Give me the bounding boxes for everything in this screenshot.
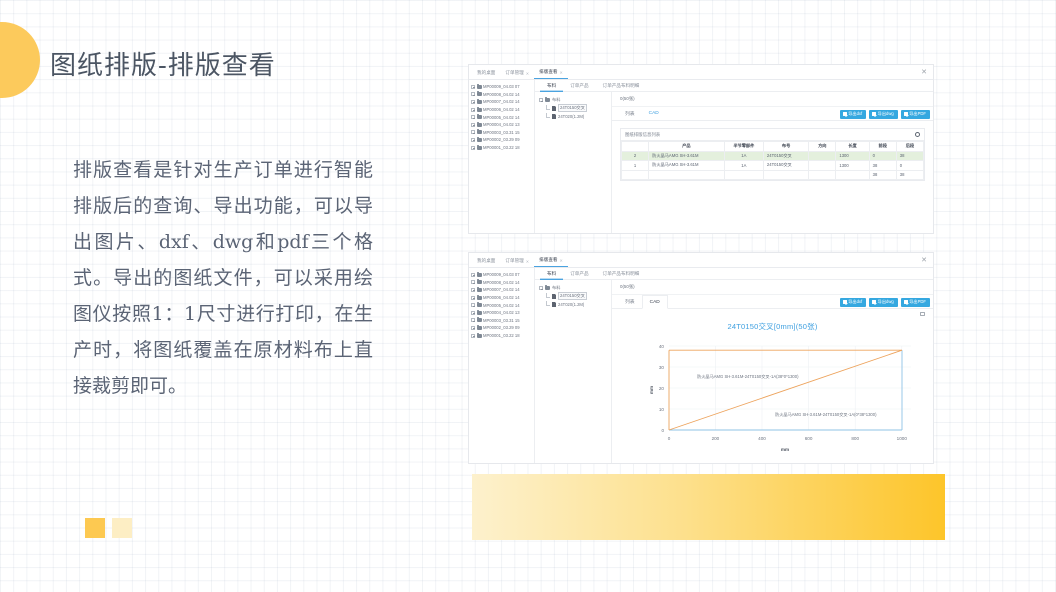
col-length: 长度 bbox=[836, 142, 869, 152]
order-tree-item-label: MP00003_03.31 15 bbox=[483, 318, 520, 323]
tree-branch-icon bbox=[546, 113, 550, 118]
folder-icon bbox=[477, 273, 482, 277]
order-tree-item-label: MP00002_03.29 09 bbox=[483, 137, 520, 142]
screenshot-panel-cad-view: 我的桌面 订单管理 ✕ 排版查看 ✕ ✕ MP00009_04.03 07 bbox=[468, 252, 934, 464]
sub-tab-order-product-fabric-detail[interactable]: 订单产品布料明细 bbox=[596, 80, 647, 92]
folder-icon bbox=[477, 318, 482, 322]
cell-product bbox=[649, 170, 725, 180]
main-tab-desktop[interactable]: 我的桌面 bbox=[472, 70, 500, 79]
download-icon bbox=[843, 300, 847, 305]
x-tick-label: 600 bbox=[804, 436, 812, 441]
decorative-circle bbox=[0, 22, 40, 98]
download-icon bbox=[904, 112, 908, 117]
chart-title: 24T0150交叉[0mm](50张) bbox=[612, 321, 933, 332]
cell-fabric-no: 24T0150交叉 bbox=[763, 151, 808, 161]
expand-collapse-icon[interactable] bbox=[471, 115, 475, 119]
file-icon bbox=[552, 106, 556, 111]
order-tree-item[interactable]: MP00009_04.03 07 bbox=[471, 271, 532, 279]
order-tree-item[interactable]: MP00001_03.22 18 bbox=[471, 144, 532, 152]
order-tree-item[interactable]: MP00005_04.02 14 bbox=[471, 301, 532, 309]
fabric-tree-bottom[interactable]: 布料 24T0150交叉 24T020(1.2M) bbox=[535, 280, 612, 463]
col-front: 前段 bbox=[869, 142, 896, 152]
main-tab-desktop-label: 我的桌面 bbox=[477, 258, 495, 264]
order-tree-item-label: MP00006_04.02 14 bbox=[483, 295, 520, 300]
folder-icon bbox=[477, 326, 482, 330]
order-tree-item-label: MP00003_03.31 15 bbox=[483, 130, 520, 135]
folder-icon bbox=[477, 288, 482, 292]
order-tree-top[interactable]: MP00009_04.03 07 MP00008_04.02 14 MP0000… bbox=[469, 80, 535, 233]
window-close-icon[interactable]: ✕ bbox=[921, 257, 927, 264]
table-total-row: 38 38 bbox=[622, 170, 924, 180]
folder-icon bbox=[477, 108, 482, 112]
close-icon[interactable]: ✕ bbox=[560, 258, 563, 263]
folder-icon bbox=[477, 311, 482, 315]
fabric-tree-root-label: 布料 bbox=[552, 285, 560, 291]
panes: 布料 24T0150交叉 24T020(1.2M) bbox=[535, 92, 933, 233]
slide-canvas: 图纸排版-排版查看 排版查看是针对生产订单进行智能排版后的查询、导出功能，可以导… bbox=[0, 0, 1056, 592]
close-icon[interactable]: ✕ bbox=[526, 71, 529, 76]
table-caption: 图纸排版信息列表 bbox=[625, 132, 660, 138]
fabric-tree-top[interactable]: 布料 24T0150交叉 24T020(1.2M) bbox=[535, 92, 612, 233]
order-tree-item[interactable]: MP00004_04.02 13 bbox=[471, 121, 532, 129]
expand-collapse-icon[interactable] bbox=[471, 318, 475, 322]
main-tab-order-management-label: 订单管理 bbox=[505, 70, 523, 76]
folder-icon bbox=[477, 130, 482, 134]
cell-fabric-no bbox=[763, 170, 808, 180]
table-header-row: 产品 半节零部件 布号 方向 长度 前段 后段 bbox=[622, 142, 924, 152]
download-icon bbox=[843, 112, 847, 117]
fabric-tree-item-24t020[interactable]: 24T020(1.2M) bbox=[539, 300, 608, 308]
content-column: 布料 订单产品 订单产品布料明细 布料 24T bbox=[535, 80, 933, 233]
tab-list[interactable]: 列表 bbox=[618, 295, 642, 309]
expand-collapse-icon[interactable] bbox=[471, 138, 475, 142]
main-tab-order-management[interactable]: 订单管理 ✕ bbox=[500, 258, 534, 267]
main-tab-layout-view-label: 排版查看 bbox=[539, 257, 557, 263]
export-pdf-button[interactable]: 导出PDF bbox=[901, 298, 930, 307]
main-tabbar: 我的桌面 订单管理 ✕ 排版查看 ✕ ✕ bbox=[469, 65, 933, 80]
tab-list[interactable]: 列表 bbox=[618, 107, 642, 121]
table-row[interactable]: 2 防火晶马AMG SH-3.61M 1A 24T0150交叉 1300 0 3… bbox=[622, 151, 924, 161]
sub-tab-order-product[interactable]: 订单产品 bbox=[563, 268, 595, 280]
cell-front: 38 bbox=[869, 161, 896, 171]
download-icon bbox=[904, 300, 908, 305]
order-tree-item-label: MP00009_04.03 07 bbox=[483, 272, 520, 277]
x-axis-label: mm bbox=[780, 447, 788, 452]
decorative-square-dark bbox=[85, 518, 105, 538]
chart-annotation: 防火晶马AMG SH-3.61M-24T0150交叉-1A(38*0*1300) bbox=[697, 373, 799, 380]
layout-info-table-card: 图纸排版信息列表 产品 半节零部件 布号 bbox=[620, 128, 925, 181]
main-tab-desktop-label: 我的桌面 bbox=[477, 70, 495, 76]
sub-tabbar: 布料 订单产品 订单产品布料明细 bbox=[535, 268, 933, 280]
folder-icon bbox=[545, 98, 550, 102]
y-tick-label: 10 bbox=[658, 407, 664, 412]
y-tick-label: 40 bbox=[658, 344, 664, 349]
file-icon bbox=[552, 302, 556, 307]
table-caption-bar: 图纸排版信息列表 bbox=[621, 129, 924, 141]
download-icon bbox=[872, 300, 876, 305]
expand-collapse-icon[interactable] bbox=[471, 146, 475, 150]
export-button-group: 导出dxf 导出dwg 导出PDF bbox=[840, 110, 930, 119]
body-paragraph: 排版查看是针对生产订单进行智能排版后的查询、导出功能，可以导出图片、dxf、dw… bbox=[73, 152, 373, 404]
expand-collapse-icon[interactable] bbox=[471, 326, 475, 330]
fabric-tree-item-24t0150[interactable]: 24T0150交叉 bbox=[539, 292, 608, 300]
x-tick-label: 200 bbox=[711, 436, 719, 441]
expand-collapse-icon[interactable] bbox=[539, 286, 543, 290]
col-index bbox=[622, 142, 649, 152]
sub-tabbar: 布料 订单产品 订单产品布料明细 bbox=[535, 80, 933, 92]
order-tree-item-label: MP00006_04.02 14 bbox=[483, 107, 520, 112]
folder-icon bbox=[477, 334, 482, 338]
decorative-square-light bbox=[112, 518, 132, 538]
order-tree-item-label: MP00001_03.22 18 bbox=[483, 333, 520, 338]
tab-cad[interactable]: CAD bbox=[642, 295, 668, 309]
window-body: MP00009_04.03 07 MP00008_04.02 14 MP0000… bbox=[469, 80, 933, 233]
folder-icon bbox=[477, 146, 482, 150]
cell-index: 2 bbox=[622, 151, 649, 161]
file-icon bbox=[552, 114, 556, 119]
tab-cad[interactable]: CAD bbox=[642, 107, 666, 121]
download-icon bbox=[872, 112, 876, 117]
folder-icon bbox=[477, 115, 482, 119]
y-tick-label: 0 bbox=[661, 428, 664, 433]
main-tab-order-management[interactable]: 订单管理 ✕ bbox=[500, 70, 534, 79]
fabric-tree-root-label: 布料 bbox=[552, 97, 560, 103]
export-dxf-button[interactable]: 导出dxf bbox=[840, 110, 866, 119]
order-tree-item[interactable]: MP00006_04.02 14 bbox=[471, 294, 532, 302]
expand-collapse-icon[interactable] bbox=[471, 288, 475, 292]
order-tree-item-label: MP00004_04.02 13 bbox=[483, 310, 520, 315]
expand-collapse-icon[interactable] bbox=[471, 85, 475, 89]
fabric-tree-item-label: 24T020(1.2M) bbox=[558, 302, 584, 307]
export-dxf-button[interactable]: 导出dxf bbox=[840, 298, 866, 307]
export-dwg-button[interactable]: 导出dwg bbox=[869, 298, 898, 307]
order-tree-item-label: MP00007_04.02 14 bbox=[483, 99, 520, 104]
expand-collapse-icon[interactable] bbox=[471, 130, 475, 134]
folder-icon bbox=[477, 123, 482, 127]
order-tree-item-label: MP00002_03.29 09 bbox=[483, 325, 520, 330]
order-tree-item[interactable]: MP00006_04.02 14 bbox=[471, 106, 532, 114]
order-tree-item[interactable]: MP00002_03.29 09 bbox=[471, 324, 532, 332]
window-body: MP00009_04.03 07 MP00008_04.02 14 MP0000… bbox=[469, 268, 933, 463]
order-tree-item-label: MP00001_03.22 18 bbox=[483, 145, 520, 150]
export-dwg-label: 导出dwg bbox=[878, 111, 894, 117]
chart-series-diagonal-cut bbox=[669, 350, 902, 430]
sub-tab-fabric[interactable]: 布料 bbox=[540, 268, 563, 280]
folder-icon bbox=[477, 138, 482, 142]
x-tick-label: 400 bbox=[758, 436, 766, 441]
cell-direction bbox=[809, 170, 836, 180]
layout-plot: 40 30 20 10 0 0 200 400 600 800 bbox=[623, 334, 923, 454]
export-pdf-button[interactable]: 导出PDF bbox=[901, 110, 930, 119]
order-tree-item[interactable]: MP00009_04.03 07 bbox=[471, 83, 532, 91]
cell-length bbox=[836, 170, 869, 180]
table-row[interactable]: 1 防火晶马AMG SH-3.61M 1A 24T0150交叉 1300 38 … bbox=[622, 161, 924, 171]
expand-collapse-icon[interactable] bbox=[471, 100, 475, 104]
export-dwg-label: 导出dwg bbox=[878, 299, 894, 305]
content-column: 布料 订单产品 订单产品布料明细 布料 24T bbox=[535, 268, 933, 463]
order-tree-item-label: MP00005_04.02 14 bbox=[483, 303, 520, 308]
order-tree-item[interactable]: MP00003_03.31 15 bbox=[471, 317, 532, 325]
expand-collapse-icon[interactable] bbox=[471, 108, 475, 112]
col-back: 后段 bbox=[896, 142, 923, 152]
screenshot-panel-list-view: 我的桌面 订单管理 ✕ 排版查看 ✕ ✕ MP00009_04.03 07 bbox=[468, 64, 934, 234]
order-tree-item[interactable]: MP00005_04.02 14 bbox=[471, 113, 532, 121]
fabric-tree-item-24t0150[interactable]: 24T0150交叉 bbox=[539, 104, 608, 112]
folder-icon bbox=[477, 100, 482, 104]
sheet-count-label: 0(50张) bbox=[612, 92, 933, 107]
cad-chart-area: 24T0150交叉[0mm](50张) bbox=[612, 309, 933, 463]
view-tabbar-top: 列表 CAD 导出dxf 导出dwg bbox=[612, 107, 933, 121]
cell-index bbox=[622, 170, 649, 180]
camera-icon[interactable] bbox=[920, 312, 925, 316]
close-icon[interactable]: ✕ bbox=[560, 70, 563, 75]
order-tree-item-label: MP00008_04.02 14 bbox=[483, 280, 520, 285]
gear-icon[interactable] bbox=[915, 132, 920, 137]
y-tick-label: 20 bbox=[658, 386, 664, 391]
sub-tab-fabric[interactable]: 布料 bbox=[540, 80, 563, 92]
fabric-tree-item-24t020[interactable]: 24T020(1.2M) bbox=[539, 112, 608, 120]
tree-branch-icon bbox=[546, 105, 550, 110]
export-pdf-label: 导出PDF bbox=[909, 111, 926, 117]
cell-product: 防火晶马AMG SH-3.61M bbox=[649, 161, 725, 171]
sheet-count-label: 0(50张) bbox=[612, 280, 933, 295]
cell-length: 1300 bbox=[836, 151, 869, 161]
order-tree-item[interactable]: MP00007_04.02 14 bbox=[471, 286, 532, 294]
folder-icon bbox=[477, 280, 482, 284]
cell-back: 0 bbox=[896, 161, 923, 171]
main-tab-layout-view-label: 排版查看 bbox=[539, 69, 557, 75]
expand-collapse-icon[interactable] bbox=[539, 98, 543, 102]
order-tree-item-label: MP00008_04.02 14 bbox=[483, 92, 520, 97]
cell-direction bbox=[809, 161, 836, 171]
close-icon[interactable]: ✕ bbox=[526, 259, 529, 264]
fabric-tree-root[interactable]: 布料 bbox=[539, 284, 608, 292]
order-tree-item-label: MP00007_04.02 14 bbox=[483, 287, 520, 292]
main-tabbar: 我的桌面 订单管理 ✕ 排版查看 ✕ ✕ bbox=[469, 253, 933, 268]
fabric-tree-root[interactable]: 布料 bbox=[539, 96, 608, 104]
order-tree-item-label: MP00005_04.02 14 bbox=[483, 115, 520, 120]
page-title: 图纸排版-排版查看 bbox=[50, 45, 276, 82]
expand-collapse-icon[interactable] bbox=[471, 334, 475, 338]
main-tab-order-management-label: 订单管理 bbox=[505, 258, 523, 264]
expand-collapse-icon[interactable] bbox=[471, 273, 475, 277]
x-tick-label: 800 bbox=[851, 436, 859, 441]
expand-collapse-icon[interactable] bbox=[471, 296, 475, 300]
order-tree-item[interactable]: MP00007_04.02 14 bbox=[471, 98, 532, 106]
expand-collapse-icon[interactable] bbox=[471, 123, 475, 127]
folder-icon bbox=[477, 303, 482, 307]
expand-collapse-icon[interactable] bbox=[471, 280, 475, 284]
file-icon bbox=[552, 294, 556, 299]
col-product: 产品 bbox=[649, 142, 725, 152]
order-tree-item[interactable]: MP00008_04.02 14 bbox=[471, 91, 532, 99]
folder-icon bbox=[477, 85, 482, 89]
order-tree-item[interactable]: MP00004_04.02 13 bbox=[471, 309, 532, 317]
folder-icon bbox=[545, 286, 550, 290]
sub-tab-order-product[interactable]: 订单产品 bbox=[563, 80, 595, 92]
folder-icon bbox=[477, 296, 482, 300]
col-direction: 方向 bbox=[809, 142, 836, 152]
cell-front-total: 38 bbox=[869, 170, 896, 180]
order-tree-item[interactable]: MP00003_03.31 15 bbox=[471, 129, 532, 137]
cell-fabric-no: 24T0150交叉 bbox=[763, 161, 808, 171]
order-tree-item[interactable]: MP00002_03.29 09 bbox=[471, 136, 532, 144]
col-fabric-no: 布号 bbox=[763, 142, 808, 152]
y-axis-label: mm bbox=[649, 386, 654, 394]
sub-tab-order-product-fabric-detail[interactable]: 订单产品布料明细 bbox=[596, 268, 647, 280]
expand-collapse-icon[interactable] bbox=[471, 92, 475, 96]
tree-branch-icon bbox=[546, 293, 550, 298]
export-dxf-label: 导出dxf bbox=[848, 299, 862, 305]
main-tab-layout-view[interactable]: 排版查看 ✕ bbox=[534, 69, 568, 79]
export-pdf-label: 导出PDF bbox=[909, 299, 926, 305]
order-tree-item[interactable]: MP00008_04.02 14 bbox=[471, 279, 532, 287]
x-tick-label: 0 bbox=[667, 436, 670, 441]
chart-annotation: 防火晶马AMG SH-3.61M-24T0150交叉-1A(0*38*1300) bbox=[775, 411, 877, 418]
work-area-top: 0(50张) 列表 CAD 导出dxf bbox=[612, 92, 933, 233]
order-tree-item-label: MP00004_04.02 13 bbox=[483, 122, 520, 127]
cell-product: 防火晶马AMG SH-3.61M bbox=[649, 151, 725, 161]
export-dxf-label: 导出dxf bbox=[848, 111, 862, 117]
window-close-icon[interactable]: ✕ bbox=[921, 69, 927, 76]
main-tab-layout-view[interactable]: 排版查看 ✕ bbox=[534, 257, 568, 267]
cell-index: 1 bbox=[622, 161, 649, 171]
order-tree-item[interactable]: MP00001_03.22 18 bbox=[471, 332, 532, 340]
y-tick-label: 30 bbox=[658, 365, 664, 370]
cell-part: 1A bbox=[724, 151, 763, 161]
layout-info-table: 产品 半节零部件 布号 方向 长度 前段 后段 bbox=[621, 141, 924, 180]
main-tab-desktop[interactable]: 我的桌面 bbox=[472, 258, 500, 267]
cell-length: 1300 bbox=[836, 161, 869, 171]
cell-front: 0 bbox=[869, 151, 896, 161]
col-part: 半节零部件 bbox=[724, 142, 763, 152]
panes: 布料 24T0150交叉 24T020(1.2M) bbox=[535, 280, 933, 463]
tree-branch-icon bbox=[546, 301, 550, 306]
decorative-gradient-bar bbox=[472, 474, 945, 540]
export-button-group: 导出dxf 导出dwg 导出PDF bbox=[840, 298, 930, 307]
fabric-tree-item-label: 24T020(1.2M) bbox=[558, 114, 584, 119]
expand-collapse-icon[interactable] bbox=[471, 311, 475, 315]
export-dwg-button[interactable]: 导出dwg bbox=[869, 110, 898, 119]
order-tree-item-label: MP00009_04.03 07 bbox=[483, 84, 520, 89]
cell-direction bbox=[809, 151, 836, 161]
view-tabbar-bottom: 列表 CAD 导出dxf 导出dwg bbox=[612, 295, 933, 309]
work-area-bottom: 0(50张) 列表 CAD 导出dxf bbox=[612, 280, 933, 463]
cell-part bbox=[724, 170, 763, 180]
cell-back: 38 bbox=[896, 151, 923, 161]
fabric-tree-item-label: 24T0150交叉 bbox=[558, 104, 587, 112]
folder-icon bbox=[477, 92, 482, 96]
expand-collapse-icon[interactable] bbox=[471, 303, 475, 307]
order-tree-bottom[interactable]: MP00009_04.03 07 MP00008_04.02 14 MP0000… bbox=[469, 268, 535, 463]
cell-back-total: 38 bbox=[896, 170, 923, 180]
fabric-tree-item-label: 24T0150交叉 bbox=[558, 292, 587, 300]
x-tick-label: 1000 bbox=[896, 436, 907, 441]
cell-part: 1A bbox=[724, 161, 763, 171]
